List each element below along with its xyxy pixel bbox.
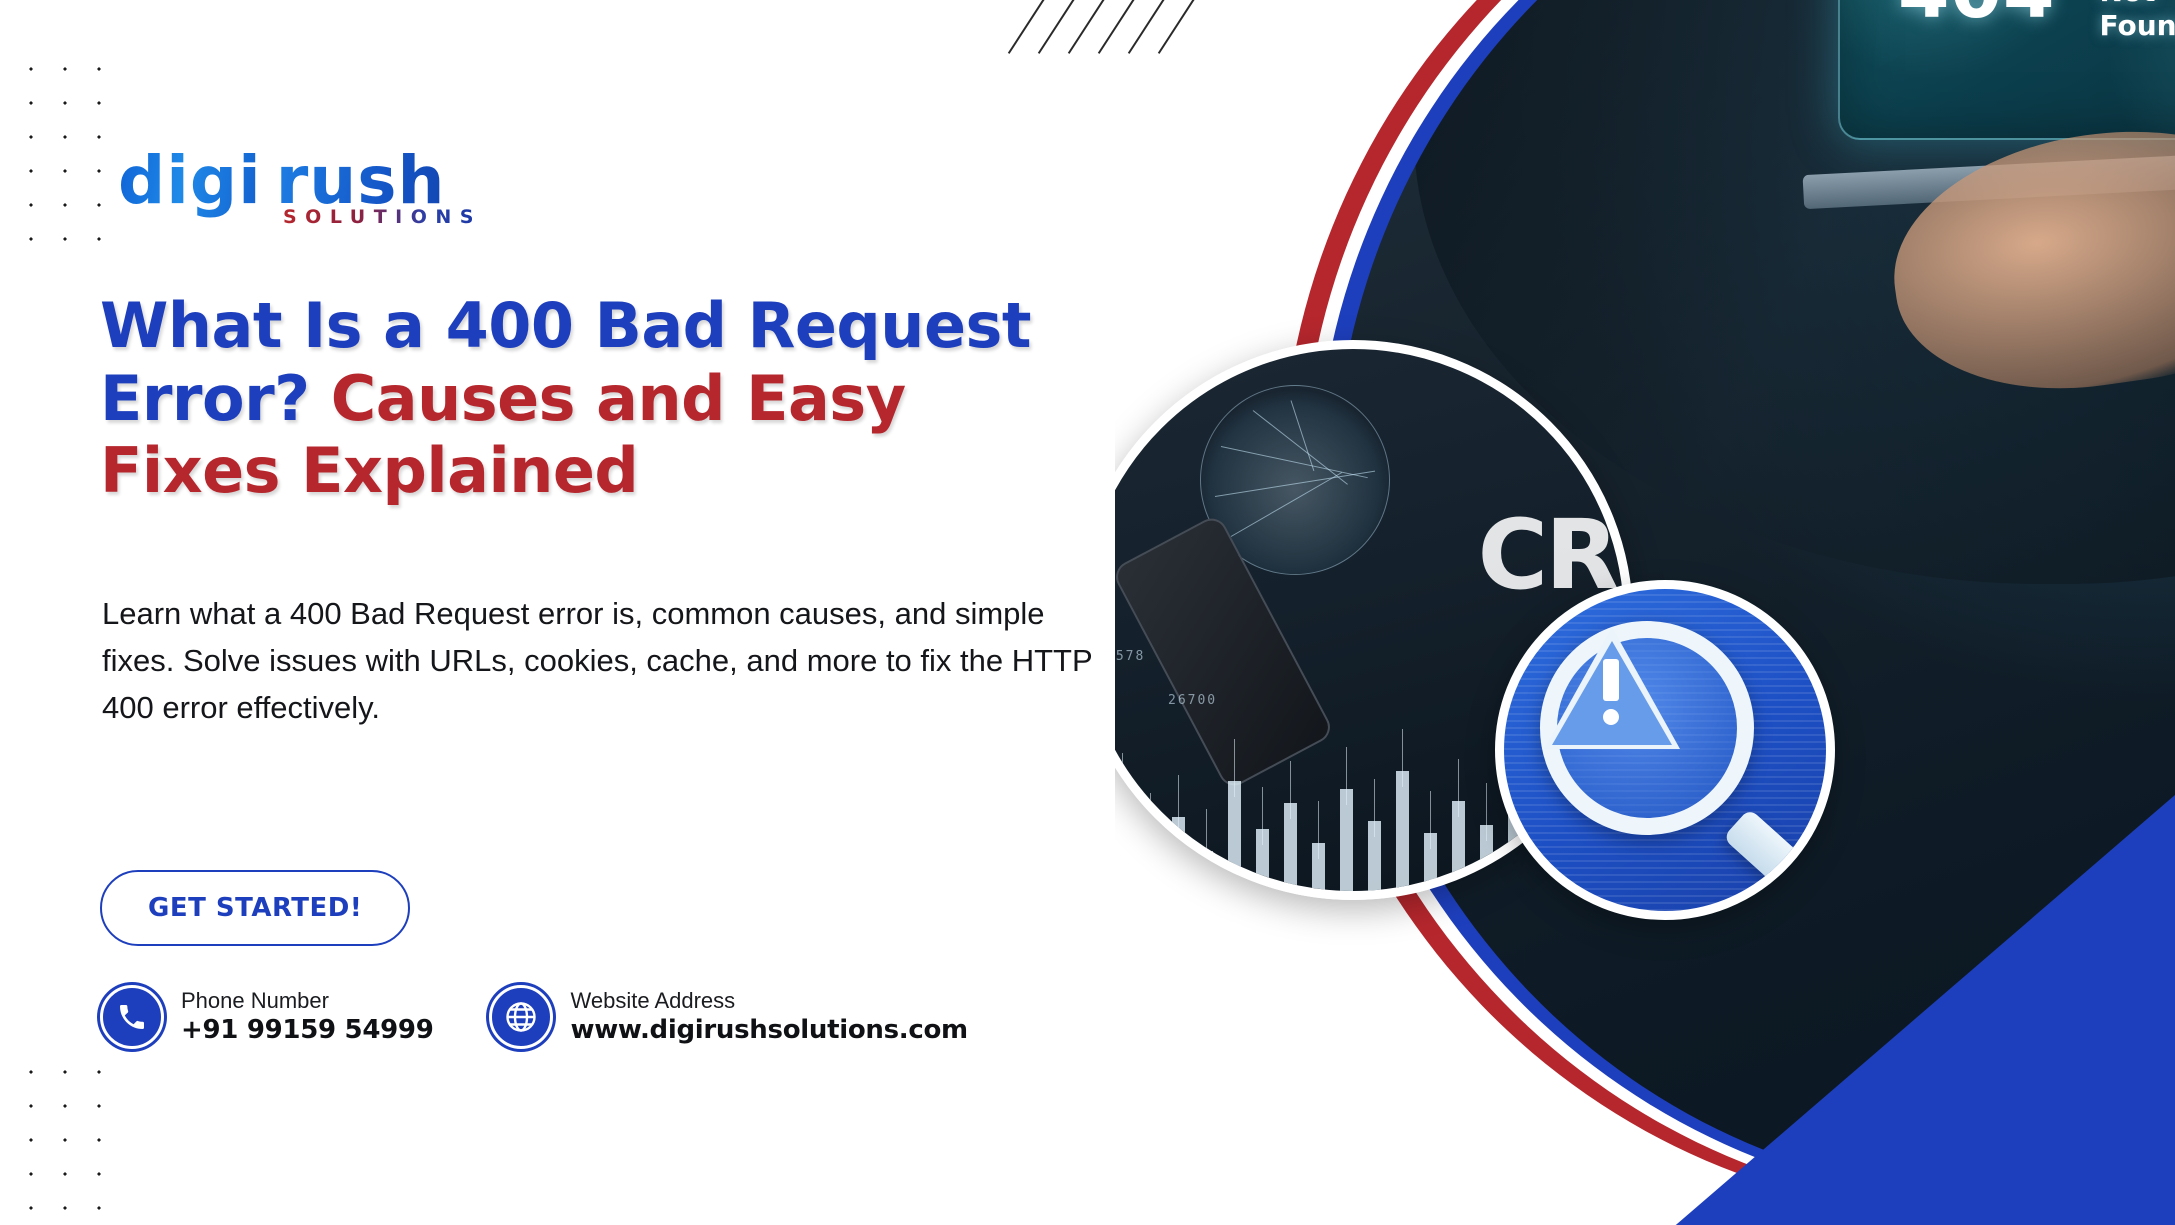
warning-exclamation-dot: [1603, 709, 1619, 725]
description-text: Learn what a 400 Bad Request error is, c…: [102, 590, 1102, 731]
contact-phone[interactable]: Phone Number +91 99159 54999: [100, 985, 433, 1049]
contact-website-value: www.digirushsolutions.com: [570, 1014, 967, 1047]
globe-icon: [489, 985, 553, 1049]
error-message-text: Page Not Found: [2099, 0, 2175, 44]
headline-line-1: What Is a 400 Bad Request: [100, 289, 1031, 362]
content-column: digirush SOLUTIONS What Is a 400 Bad Req…: [100, 0, 1160, 1225]
contact-website[interactable]: Website Address www.digirushsolutions.co…: [489, 985, 967, 1049]
get-started-button[interactable]: GET STARTED!: [100, 870, 410, 946]
phone-icon: [100, 985, 164, 1049]
error-message-line-2: Not: [2099, 0, 2175, 9]
page-title: What Is a 400 Bad Request Error? Causes …: [100, 290, 1100, 508]
error-404-screen: 404 Page Not Found: [1838, 0, 2175, 140]
logo-tagline: SOLUTIONS: [283, 206, 482, 228]
logo-text-digi: digi: [118, 142, 262, 219]
headline-line-2-blue: Error?: [100, 362, 310, 435]
hero-artwork: 404 Page Not Found CR 4578 26700: [1115, 0, 2175, 1225]
logo-wordmark: digirush: [118, 148, 482, 214]
hand-left: [1878, 106, 2175, 412]
error-code-text: 404: [1898, 0, 2055, 35]
brand-logo[interactable]: digirush SOLUTIONS: [118, 148, 482, 228]
contact-website-label: Website Address: [570, 987, 967, 1015]
contact-phone-text: Phone Number +91 99159 54999: [181, 987, 433, 1048]
warning-exclamation-bar: [1603, 659, 1619, 701]
headline-line-2-red: Causes and Easy: [331, 362, 906, 435]
warning-magnifier-circle-photo: [1495, 580, 1835, 920]
error-message-line-3: Found: [2099, 9, 2175, 43]
contact-phone-value: +91 99159 54999: [181, 1014, 433, 1047]
contact-phone-label: Phone Number: [181, 987, 433, 1015]
contact-bar: Phone Number +91 99159 54999 Website Add…: [100, 985, 968, 1049]
contact-website-text: Website Address www.digirushsolutions.co…: [570, 987, 967, 1048]
headline-line-3: Fixes Explained: [100, 434, 638, 507]
